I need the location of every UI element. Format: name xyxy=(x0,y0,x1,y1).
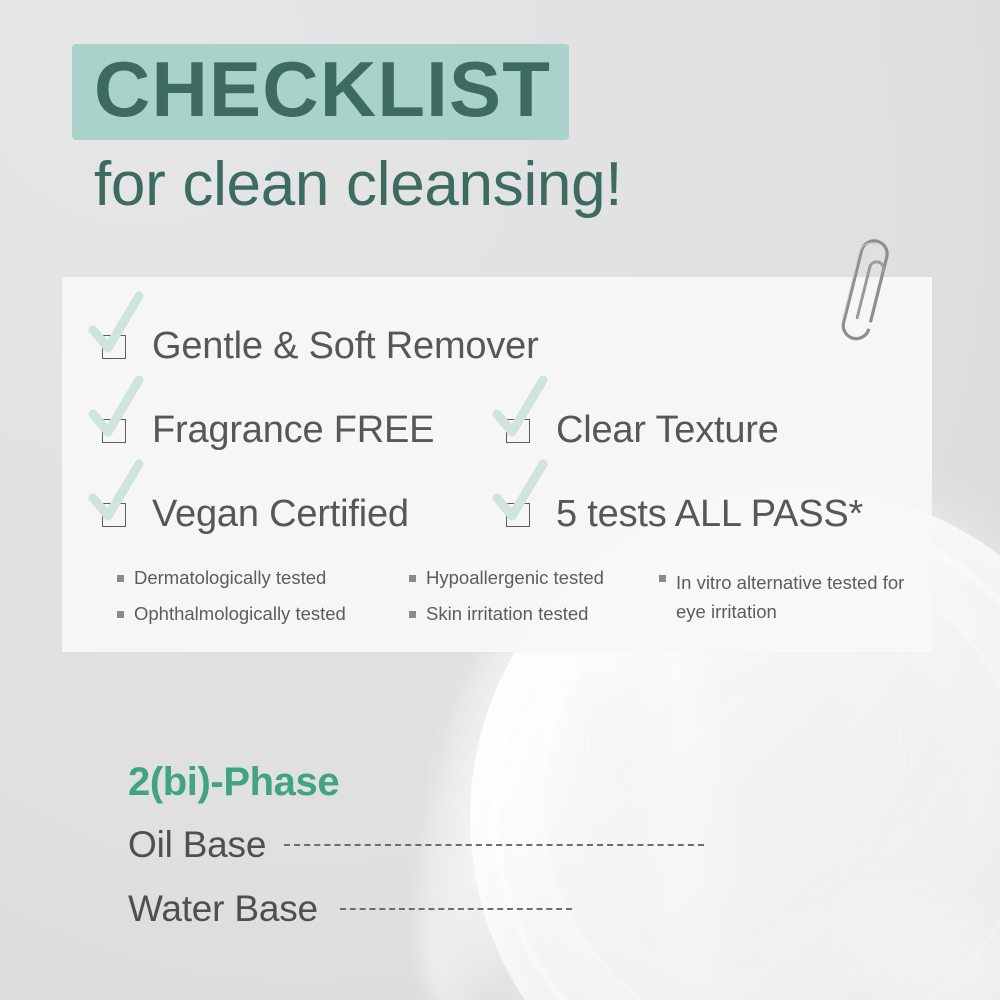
title-highlight-box: CHECKLIST xyxy=(72,44,569,140)
fine-print-item: In vitro alternative tested for eye irri… xyxy=(659,569,927,626)
checklist-item-label: Gentle & Soft Remover xyxy=(152,325,539,368)
fine-print-item: Ophthalmologically tested xyxy=(117,605,409,624)
checklist-item-label: Clear Texture xyxy=(556,409,779,452)
poster-canvas: CHECKLIST for clean cleansing! Gentle & … xyxy=(0,0,1000,1000)
checklist-item-label: Vegan Certified xyxy=(152,493,409,536)
fine-print-item: Hypoallergenic tested xyxy=(409,569,659,588)
checkbox[interactable] xyxy=(102,335,126,359)
dashed-leader-line xyxy=(340,908,572,910)
checkbox[interactable] xyxy=(506,419,530,443)
phase-title: 2(bi)-Phase xyxy=(128,762,704,802)
page-title: CHECKLIST xyxy=(94,50,551,130)
phase-block: 2(bi)-Phase Oil Base Water Base xyxy=(128,762,704,930)
fine-print-group: Dermatologically tested Ophthalmological… xyxy=(117,569,927,643)
checklist-item-5-tests-all-pass[interactable]: 5 tests ALL PASS* xyxy=(506,493,863,536)
phase-line-oil-base: Oil Base xyxy=(128,824,704,866)
fine-print-column-2: Hypoallergenic tested Skin irritation te… xyxy=(409,569,659,643)
fine-print-column-3: In vitro alternative tested for eye irri… xyxy=(659,569,927,643)
fine-print-column-1: Dermatologically tested Ophthalmological… xyxy=(117,569,409,643)
bullet-icon xyxy=(659,575,666,582)
checklist-item-label: 5 tests ALL PASS* xyxy=(556,493,863,536)
checklist-item-clear-texture[interactable]: Clear Texture xyxy=(506,409,779,452)
checkbox[interactable] xyxy=(102,419,126,443)
checklist-card: Gentle & Soft Remover Fragrance FREE Veg… xyxy=(62,277,932,652)
checkmark-icon xyxy=(89,290,147,362)
plate-gloss-highlight-bottom xyxy=(806,851,1000,1000)
checkmark-icon xyxy=(89,374,147,446)
phase-line-label: Water Base xyxy=(128,888,318,930)
page-title-block: CHECKLIST for clean cleansing! xyxy=(72,44,772,217)
bullet-icon xyxy=(409,575,416,582)
fine-print-item: Dermatologically tested xyxy=(117,569,409,588)
checklist-item-label: Fragrance FREE xyxy=(152,409,434,452)
fine-print-item: Skin irritation tested xyxy=(409,605,659,624)
bullet-icon xyxy=(117,611,124,618)
bullet-icon xyxy=(409,611,416,618)
dashed-leader-line xyxy=(284,844,704,846)
phase-line-water-base: Water Base xyxy=(128,888,704,930)
checkbox[interactable] xyxy=(102,503,126,527)
paperclip-icon xyxy=(828,222,898,342)
checklist-item-gentle-soft-remover[interactable]: Gentle & Soft Remover xyxy=(102,325,539,368)
checkmark-icon xyxy=(493,374,551,446)
bullet-icon xyxy=(117,575,124,582)
checkbox[interactable] xyxy=(506,503,530,527)
phase-line-label: Oil Base xyxy=(128,824,266,866)
checklist-item-vegan-certified[interactable]: Vegan Certified xyxy=(102,493,409,536)
page-subtitle: for clean cleansing! xyxy=(94,152,772,218)
checklist-item-fragrance-free[interactable]: Fragrance FREE xyxy=(102,409,434,452)
checkmark-icon xyxy=(89,458,147,530)
checkmark-icon xyxy=(493,458,551,530)
